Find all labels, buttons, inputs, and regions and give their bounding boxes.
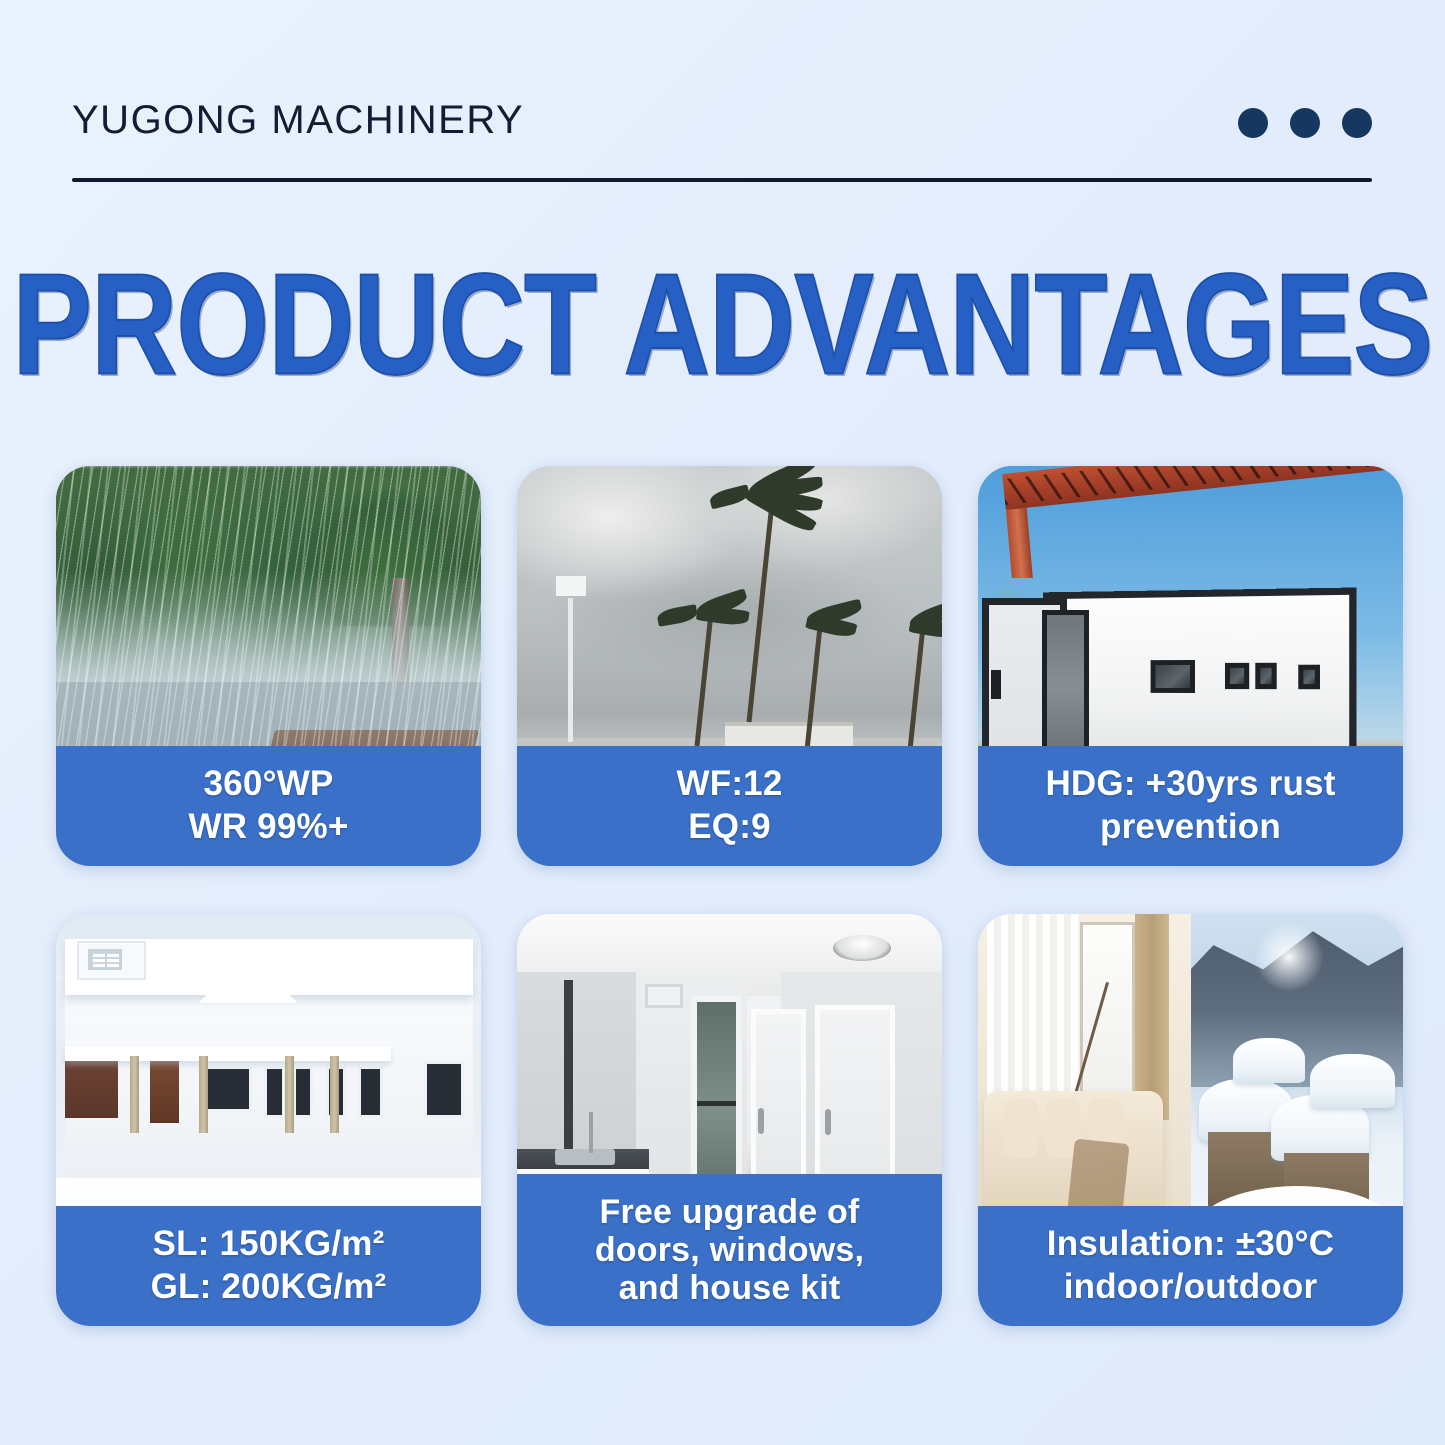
- caption-line: prevention: [1100, 806, 1281, 849]
- advantage-caption: Free upgrade of doors, windows, and hous…: [517, 1174, 942, 1326]
- caption-line: Insulation: ±30°C: [1047, 1223, 1334, 1266]
- product-advantages-poster: YUGONG MACHINERY PRODUCT ADVANTAGES 360°…: [0, 0, 1445, 1445]
- header-dot-icon: [1290, 108, 1320, 138]
- caption-line: HDG: +30yrs rust: [1045, 763, 1335, 806]
- header-dot-icon: [1238, 108, 1268, 138]
- caption-line: GL: 200KG/m²: [151, 1266, 387, 1309]
- header-divider: [72, 178, 1372, 182]
- advantage-caption: 360°WP WR 99%+: [56, 746, 481, 866]
- caption-line: 360°WP: [204, 763, 334, 806]
- advantages-grid: 360°WP WR 99%+: [56, 466, 1404, 1326]
- advantage-card-snow-load[interactable]: SL: 150KG/m² GL: 200KG/m²: [56, 914, 481, 1326]
- advantages-row: 360°WP WR 99%+: [56, 466, 1404, 866]
- caption-line: and house kit: [619, 1269, 841, 1307]
- caption-line: indoor/outdoor: [1064, 1266, 1318, 1309]
- caption-line: WR 99%+: [189, 806, 349, 849]
- caption-line: WF:12: [677, 763, 783, 806]
- caption-line: Free upgrade of: [600, 1193, 860, 1231]
- advantage-caption: SL: 150KG/m² GL: 200KG/m²: [56, 1206, 481, 1326]
- caption-line: EQ:9: [688, 806, 771, 849]
- advantage-caption: Insulation: ±30°C indoor/outdoor: [978, 1206, 1403, 1326]
- page-title: PRODUCT ADVANTAGES: [13, 252, 1433, 396]
- header-dot-icon: [1342, 108, 1372, 138]
- advantage-card-insulation[interactable]: Insulation: ±30°C indoor/outdoor: [978, 914, 1403, 1326]
- caption-line: SL: 150KG/m²: [153, 1223, 385, 1266]
- advantage-card-galvanized[interactable]: HDG: +30yrs rust prevention: [978, 466, 1403, 866]
- advantage-card-free-upgrade[interactable]: Free upgrade of doors, windows, and hous…: [517, 914, 942, 1326]
- advantage-caption: WF:12 EQ:9: [517, 746, 942, 866]
- advantage-card-waterproof[interactable]: 360°WP WR 99%+: [56, 466, 481, 866]
- caption-line: doors, windows,: [595, 1231, 864, 1269]
- advantage-card-wind-earthquake[interactable]: WF:12 EQ:9: [517, 466, 942, 866]
- advantages-row: SL: 150KG/m² GL: 200KG/m²: [56, 914, 1404, 1326]
- page-header: YUGONG MACHINERY: [72, 98, 1372, 190]
- page-title-wrap: PRODUCT ADVANTAGES: [0, 252, 1445, 368]
- advantage-caption: HDG: +30yrs rust prevention: [978, 746, 1403, 866]
- brand-name: YUGONG MACHINERY: [72, 98, 524, 143]
- header-dots: [1238, 108, 1372, 138]
